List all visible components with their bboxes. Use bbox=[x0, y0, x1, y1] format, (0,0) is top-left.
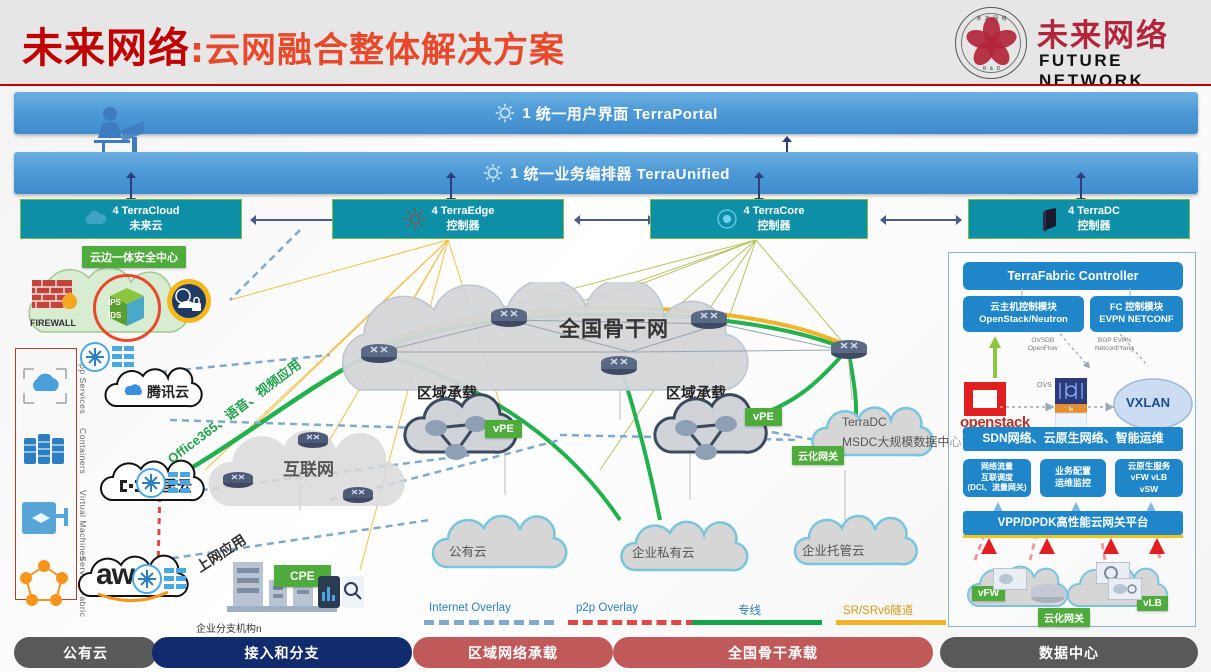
feature-cn-l1: 云原生服务 bbox=[1128, 461, 1171, 471]
gear-icon bbox=[494, 102, 516, 124]
diagram-canvas: 未来网络:云网融合整体解决方案 未 来 网 络 R & D 未来网络 FUTUR… bbox=[0, 0, 1211, 672]
ovs-label: OVS bbox=[1037, 382, 1052, 389]
containers-icon bbox=[20, 430, 68, 472]
arrow-unified-terracore bbox=[758, 178, 760, 198]
terradc-sub: 控制器 bbox=[1078, 220, 1111, 232]
banner-terraportal[interactable]: 1 统一用户界面 TerraPortal bbox=[14, 92, 1198, 134]
bottom-segment-backbone[interactable]: 全国骨干承载 bbox=[613, 637, 933, 668]
header-divider bbox=[0, 84, 1211, 86]
arrow-edge-core bbox=[580, 219, 648, 221]
vpp-dpdk-platform-box[interactable]: VPP/DPDK高性能云网关平台 bbox=[963, 511, 1183, 535]
feature-traffic-l2: 互联调度 bbox=[981, 473, 1013, 482]
ids-label: IDS bbox=[108, 311, 121, 320]
legend-label-dedicated-line: 专线 bbox=[738, 602, 761, 618]
terraedge-num: 4 bbox=[432, 205, 438, 217]
ips-ids-box-icon bbox=[104, 284, 150, 332]
terraedge-name: TerraEdge bbox=[441, 205, 495, 217]
cloud-gateway-tag: 云化网关 bbox=[792, 446, 844, 465]
cloud-host-module-l1: 云主机控制模块 bbox=[990, 302, 1057, 313]
switch-icon bbox=[132, 562, 190, 596]
terrafabric-controller-box[interactable]: TerraFabric Controller bbox=[963, 262, 1183, 290]
terradc-line1: TerraDC bbox=[842, 415, 887, 429]
banner-terraportal-num: 1 bbox=[522, 105, 531, 122]
gateway-to-platform-arrows bbox=[963, 538, 1188, 554]
vlb-node-icon bbox=[1108, 578, 1142, 600]
internet-cloud-label: 互联网 bbox=[283, 455, 334, 480]
feature-box-cloudnative[interactable]: 云原生服务 vFW vLB vSW bbox=[1115, 459, 1183, 497]
ips-label: IPS bbox=[108, 298, 121, 307]
page-title-main: 未来网络 bbox=[22, 24, 190, 72]
backbone-title: 全国骨干网 bbox=[559, 313, 669, 343]
vxlan-label: VXLAN bbox=[1126, 395, 1170, 410]
tencent-cloud-label: 腾讯云 bbox=[147, 382, 189, 402]
firewall-label: FIREWALL bbox=[30, 318, 76, 328]
banner-terraportal-label: 统一用户界面 TerraPortal bbox=[536, 103, 718, 124]
legend-line-srv6 bbox=[836, 620, 946, 625]
logo-chinese-name: 未来网络 bbox=[1037, 10, 1169, 55]
banner-terraunified-num: 1 bbox=[510, 165, 519, 182]
proto-left-l2: OpenFlow bbox=[1028, 345, 1058, 352]
bottom-segment-backbone-label: 全国骨干承载 bbox=[728, 643, 818, 663]
page-title-colon: : bbox=[190, 31, 205, 71]
cloud-host-module-box[interactable]: 云主机控制模块 OpenStack/Neutron bbox=[963, 296, 1084, 332]
arrow-unified-terradc bbox=[1080, 178, 1082, 198]
feature-traffic-l1: 网络流量 bbox=[981, 462, 1013, 471]
router-icon bbox=[297, 425, 329, 449]
terraedge-sub: 控制器 bbox=[447, 220, 480, 232]
arrow-unified-terraedge bbox=[450, 178, 452, 198]
virtual-machines-icon bbox=[20, 498, 68, 540]
switch-icon bbox=[136, 466, 194, 500]
bottom-segment-public-cloud-label: 公有云 bbox=[63, 643, 108, 663]
terracore-name: TerraCore bbox=[753, 205, 805, 217]
bottom-segment-access-branch-label: 接入和分支 bbox=[245, 643, 320, 663]
backbone-router-icon bbox=[490, 300, 528, 328]
feature-to-platform-arrows bbox=[963, 498, 1188, 512]
region-cluster-2 bbox=[650, 390, 770, 476]
banner-terraunified[interactable]: 1 统一业务编排器 TerraUnified bbox=[14, 152, 1198, 194]
arrow-unified-terracloud bbox=[130, 178, 132, 198]
terracore-num: 4 bbox=[744, 205, 750, 217]
protocol-right-label: BGP EVPN Netconf/Yang bbox=[1095, 337, 1134, 354]
server-rack-icon bbox=[1038, 206, 1064, 232]
legend-line-internet-overlay bbox=[424, 620, 554, 625]
public-cloud-label: 公有云 bbox=[449, 541, 487, 560]
proto-left-l1: OVSDB bbox=[1031, 337, 1054, 344]
legend-label-p2p-overlay: p2p Overlay bbox=[576, 602, 638, 614]
backbone-router-icon bbox=[690, 302, 728, 330]
legend-label-srv6: SR/SRv6隧道 bbox=[843, 602, 913, 618]
proto-right-l2: Netconf/Yang bbox=[1095, 345, 1134, 352]
controller-terracore[interactable]: 4 TerraCore 控制器 bbox=[650, 199, 868, 239]
terradc-num: 4 bbox=[1068, 205, 1074, 217]
fc-control-module-l2: EVPN NETCONF bbox=[1099, 314, 1173, 325]
terracore-sub: 控制器 bbox=[757, 220, 790, 232]
backbone-router-icon bbox=[360, 336, 398, 364]
company-seal-icon: 未 来 网 络 R & D bbox=[955, 7, 1027, 79]
fc-control-module-l1: FC 控制模块 bbox=[1110, 302, 1163, 313]
feature-box-ops[interactable]: 业务配置 运维监控 bbox=[1040, 459, 1106, 497]
terradc-line2: MSDC大规模数据中心 bbox=[842, 433, 961, 450]
banner-terraunified-label: 统一业务编排器 TerraUnified bbox=[524, 163, 730, 184]
cloud-host-module-l2: OpenStack/Neutron bbox=[979, 314, 1068, 325]
seal-bottom-text: R & D bbox=[956, 66, 1028, 72]
gateway-router-icon bbox=[1030, 578, 1066, 604]
cloud-icon bbox=[82, 206, 108, 232]
sdn-banner-box: SDN网络、云原生网络、智能运维 bbox=[963, 427, 1183, 451]
terracloud-num: 4 bbox=[112, 205, 118, 217]
legend-line-dedicated bbox=[692, 620, 822, 625]
label-containers: Containers bbox=[78, 428, 88, 488]
feature-ops-l1: 业务配置 bbox=[1055, 466, 1091, 476]
feature-cn-l2: vFW vLB bbox=[1131, 472, 1167, 482]
terrafabric-controller-label: TerraFabric Controller bbox=[1007, 268, 1138, 284]
backbone-router-icon bbox=[600, 348, 638, 376]
feature-cn-l3: vSW bbox=[1140, 484, 1158, 494]
vfw-node-icon bbox=[993, 568, 1027, 590]
tencent-logo-icon bbox=[124, 381, 144, 401]
fc-control-module-box[interactable]: FC 控制模块 EVPN NETCONF bbox=[1090, 296, 1183, 332]
bottom-segment-access-branch[interactable]: 接入和分支 bbox=[152, 637, 412, 668]
bottom-segment-public-cloud[interactable]: 公有云 bbox=[14, 637, 157, 668]
bottom-segment-datacenter[interactable]: 数据中心 bbox=[940, 637, 1198, 668]
legend-label-internet-overlay: Internet Overlay bbox=[429, 602, 511, 614]
router-icon bbox=[222, 465, 254, 489]
switch-icon bbox=[80, 340, 138, 374]
gear-icon bbox=[482, 162, 504, 184]
vpe-tag-1: vPE bbox=[485, 420, 522, 438]
controller-terradc[interactable]: 4 TerraDC 控制器 bbox=[968, 199, 1190, 239]
green-up-arrow-icon bbox=[988, 336, 1002, 378]
controller-terracloud[interactable]: 4 TerraCloud 未来云 bbox=[20, 199, 242, 239]
bottom-segment-regional[interactable]: 区域网络承载 bbox=[413, 637, 613, 668]
sdn-banner-label: SDN网络、云原生网络、智能运维 bbox=[982, 431, 1163, 447]
hosted-cloud-label: 企业托管云 bbox=[802, 540, 865, 559]
service-fabric-icon bbox=[18, 560, 70, 608]
page-title-sub: 云网融合整体解决方案 bbox=[205, 31, 565, 71]
terracloud-name: TerraCloud bbox=[122, 205, 180, 217]
security-center-title: 云边一体安全中心 bbox=[82, 246, 186, 268]
page-title: 未来网络:云网融合整体解决方案 bbox=[22, 14, 565, 74]
core-ring-icon bbox=[714, 206, 740, 232]
vpe-tag-2: vPE bbox=[745, 408, 782, 426]
feature-ops-l2: 运维监控 bbox=[1055, 478, 1091, 488]
vpp-dpdk-platform-label: VPP/DPDK高性能云网关平台 bbox=[998, 516, 1149, 531]
feature-box-traffic[interactable]: 网络流量 互联调度 (DCI、流量网关) bbox=[963, 459, 1031, 497]
private-cloud-label: 企业私有云 bbox=[632, 542, 695, 561]
legend-line-p2p-overlay bbox=[568, 620, 696, 625]
terradc-name: TerraDC bbox=[1077, 205, 1120, 217]
edge-node-icon bbox=[402, 206, 428, 232]
bottom-segment-datacenter-label: 数据中心 bbox=[1039, 643, 1099, 663]
protocol-left-label: OVSDB OpenFlow bbox=[1028, 337, 1058, 354]
ovs-dataflow-arrows bbox=[1000, 395, 1118, 419]
page-header: 未来网络:云网融合整体解决方案 未 来 网 络 R & D 未来网络 FUTUR… bbox=[0, 0, 1211, 86]
router-icon bbox=[342, 480, 374, 504]
feature-traffic-l3: (DCI、流量网关) bbox=[967, 483, 1026, 492]
branch-label: 企业分支机构n bbox=[196, 620, 262, 635]
app-services-icon bbox=[20, 365, 70, 407]
brand-logo: 未 来 网 络 R & D 未来网络 FUTURE NETWORK bbox=[955, 4, 1205, 82]
bottom-segment-regional-label: 区域网络承载 bbox=[468, 643, 558, 663]
arrow-core-dc bbox=[886, 219, 956, 221]
proto-right-l1: BGP EVPN bbox=[1098, 337, 1131, 344]
terracloud-sub: 未来云 bbox=[129, 220, 162, 232]
monitoring-app-icon bbox=[318, 576, 364, 608]
cloud-lock-icon bbox=[166, 278, 212, 324]
backbone-router-icon bbox=[830, 332, 868, 360]
controller-terraedge[interactable]: 4 TerraEdge 控制器 bbox=[332, 199, 564, 239]
cloud-gateway-tag-right: 云化网关 bbox=[1038, 608, 1090, 627]
